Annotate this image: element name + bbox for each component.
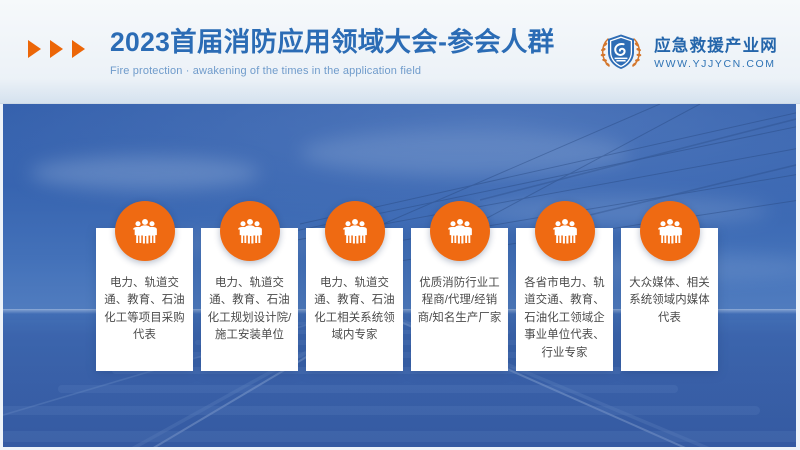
slide-header: 2023首届消防应用领域大会-参会人群 Fire protection · aw… <box>0 0 800 104</box>
page-subtitle: Fire protection · awakening of the times… <box>110 64 554 78</box>
header-gradient-wash <box>0 78 800 104</box>
people-group-icon <box>220 201 280 261</box>
triangle-right-icon <box>72 40 85 58</box>
slide-canvas: 2023首届消防应用领域大会-参会人群 Fire protection · aw… <box>0 0 800 450</box>
audience-card-list: 电力、轨道交通、教育、石油化工等项目采购代表 <box>0 104 800 450</box>
brand-logo-text: 应急救援产业网 WWW.YJJYCN.COM <box>654 32 778 70</box>
audience-card[interactable]: 优质消防行业工程商/代理/经销商/知名生产厂家 <box>411 228 508 371</box>
audience-card[interactable]: 电力、轨道交通、教育、石油化工规划设计院/施工安装单位 <box>201 228 298 371</box>
people-group-icon <box>115 201 175 261</box>
people-group-icon <box>430 201 490 261</box>
people-group-icon <box>640 201 700 261</box>
audience-card[interactable]: 各省市电力、轨道交通、教育、石油化工领域企事业单位代表、行业专家 <box>516 228 613 371</box>
audience-card[interactable]: 电力、轨道交通、教育、石油化工等项目采购代表 <box>96 228 193 371</box>
triangle-right-icon <box>28 40 41 58</box>
shield-wreath-logo-icon <box>597 27 645 75</box>
brand-url: WWW.YJJYCN.COM <box>654 58 778 70</box>
audience-card[interactable]: 大众媒体、相关系统领域内媒体代表 <box>621 228 718 371</box>
triangle-right-icon-group <box>28 40 85 58</box>
page-title: 2023首届消防应用领域大会-参会人群 <box>110 25 554 59</box>
people-group-icon <box>535 201 595 261</box>
brand-name: 应急救援产业网 <box>654 32 778 56</box>
triangle-right-icon <box>50 40 63 58</box>
brand-logo: 应急救援产业网 WWW.YJJYCN.COM <box>597 27 778 75</box>
audience-card-text: 大众媒体、相关系统领域内媒体代表 <box>627 275 712 327</box>
audience-card-text: 电力、轨道交通、教育、石油化工规划设计院/施工安装单位 <box>207 275 292 345</box>
audience-card-text: 电力、轨道交通、教育、石油化工相关系统领域内专家 <box>312 275 397 345</box>
title-block: 2023首届消防应用领域大会-参会人群 Fire protection · aw… <box>110 25 554 78</box>
audience-card-text: 各省市电力、轨道交通、教育、石油化工领域企事业单位代表、行业专家 <box>522 275 607 362</box>
audience-card-text: 优质消防行业工程商/代理/经销商/知名生产厂家 <box>417 275 502 327</box>
people-group-icon <box>325 201 385 261</box>
content-stage: 电力、轨道交通、教育、石油化工等项目采购代表 <box>0 104 800 450</box>
audience-card-text: 电力、轨道交通、教育、石油化工等项目采购代表 <box>102 275 187 345</box>
audience-card[interactable]: 电力、轨道交通、教育、石油化工相关系统领域内专家 <box>306 228 403 371</box>
